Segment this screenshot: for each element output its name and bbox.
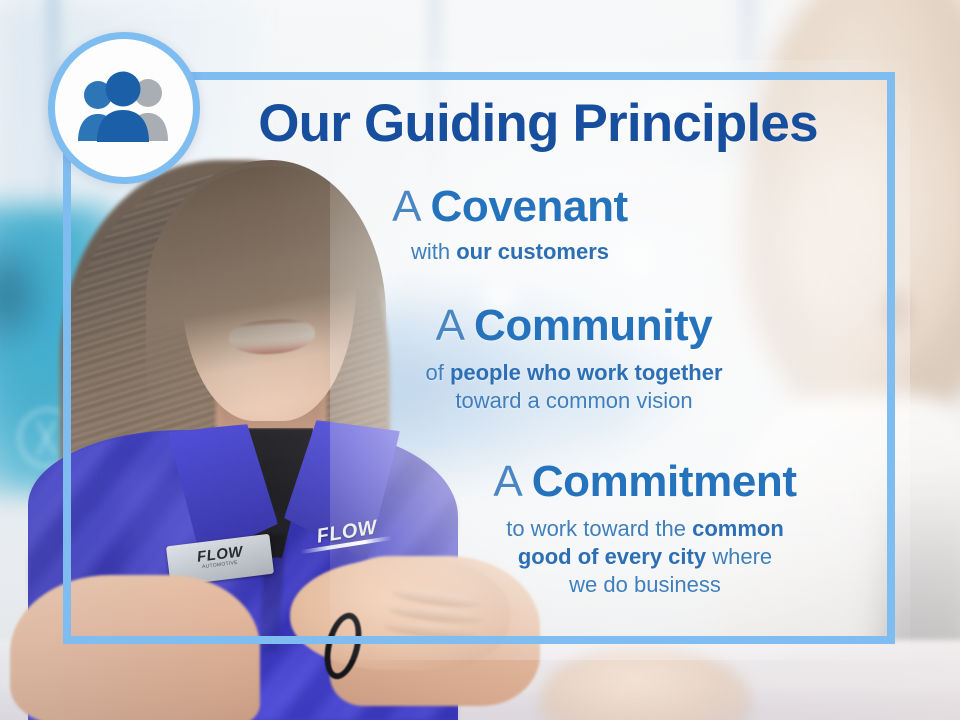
subtext-line: toward a common vision: [344, 387, 804, 415]
principle-commitment: A Commitment to work toward the common g…: [410, 458, 880, 599]
principle-noun: Community: [474, 301, 712, 350]
guiding-principles-graphic: FLOW AUTOMOTIVE FLOW: [0, 0, 960, 720]
subtext-line: we do business: [410, 571, 880, 599]
blurred-teal-shadow: [0, 235, 52, 355]
customer-ear: [878, 285, 918, 343]
subtext-line: good of every city where: [410, 543, 880, 571]
subtext-segment-bold: common: [692, 516, 784, 541]
principle-article: A: [436, 301, 474, 350]
employee-arm-left: [10, 575, 260, 720]
principle-commitment-subtext: to work toward the common good of every …: [410, 515, 880, 599]
subtext-segment: with: [411, 239, 456, 264]
subtext-segment: where: [706, 544, 772, 569]
subtext-line: to work toward the common: [410, 515, 880, 543]
principle-article: A: [493, 457, 531, 506]
principle-covenant-subtext: with our customers: [300, 238, 720, 266]
principle-article: A: [392, 182, 430, 231]
principle-noun: Commitment: [532, 457, 797, 506]
subtext-segment-bold: good of every city: [518, 544, 706, 569]
principle-community: A Community of people who work together …: [344, 302, 804, 415]
page-title: Our Guiding Principles: [213, 96, 863, 152]
group-of-people-icon: [48, 32, 200, 184]
subtext-segment: to work toward the: [506, 516, 692, 541]
principle-community-heading: A Community: [344, 302, 804, 350]
subtext-segment-bold: people who work together: [450, 360, 723, 385]
principle-covenant-heading: A Covenant: [300, 183, 720, 231]
principle-commitment-heading: A Commitment: [410, 458, 880, 506]
subtext-line: of people who work together: [344, 359, 804, 387]
principle-covenant: A Covenant with our customers: [300, 183, 720, 266]
subtext-segment-bold: our customers: [456, 239, 609, 264]
principle-community-subtext: of people who work together toward a com…: [344, 359, 804, 415]
principle-noun: Covenant: [431, 182, 628, 231]
subtext-segment: of: [425, 360, 449, 385]
